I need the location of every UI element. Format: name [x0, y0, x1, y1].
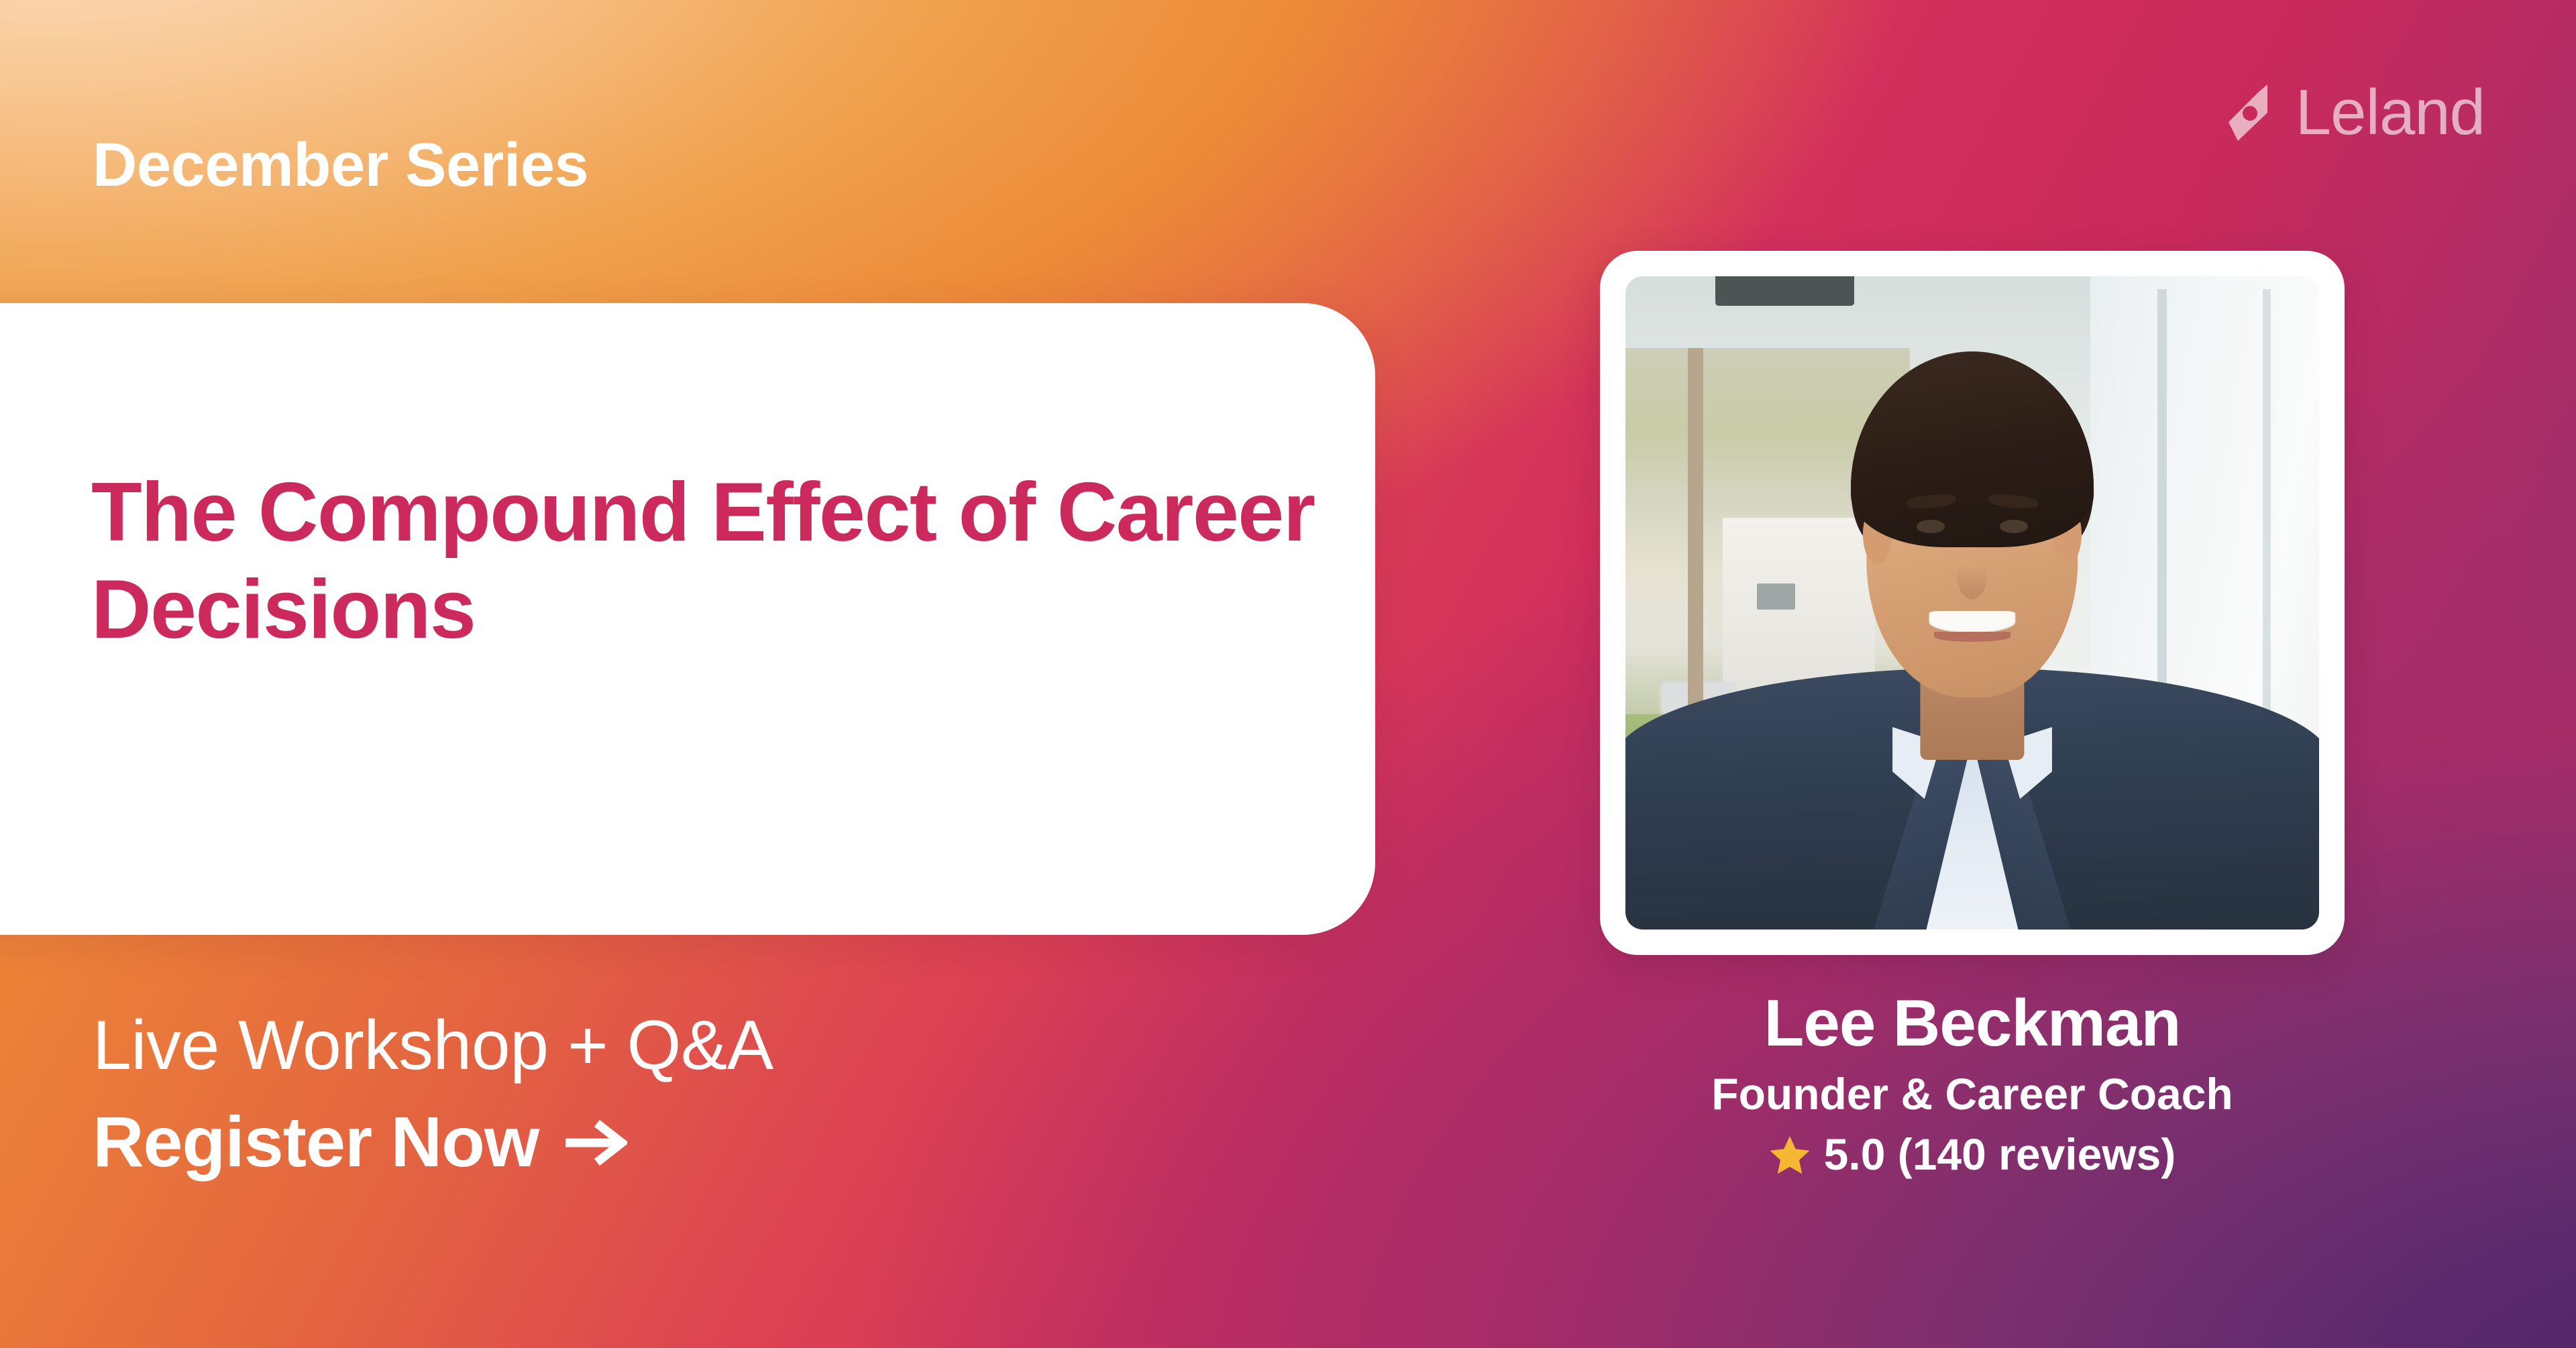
coach-name: Lee Beckman: [1764, 987, 2181, 1060]
brand-name: Leland: [2296, 80, 2485, 145]
register-now-button[interactable]: Register Now: [93, 1102, 773, 1184]
coach-photo-frame: [1600, 251, 2345, 955]
star-filled-icon: [1769, 1135, 1811, 1175]
coach-role: Founder & Career Coach: [1711, 1069, 2233, 1120]
coach-rating-text: 5.0 (140 reviews): [1824, 1129, 2176, 1180]
arrow-right-icon: [566, 1118, 627, 1168]
workshop-title-card: The Compound Effect of Career Decisions: [0, 303, 1375, 935]
workshop-title: The Compound Effect of Career Decisions: [91, 464, 1319, 659]
workshop-format-line: Live Workshop + Q&A: [93, 1005, 773, 1087]
coach-photo: [1625, 276, 2319, 930]
leland-diamond-mark-icon: [2224, 83, 2278, 142]
promo-banner: December Series Leland The Compound Effe…: [0, 0, 2576, 1348]
coach-panel: Lee Beckman Founder & Career Coach 5.0 (…: [1600, 251, 2345, 1180]
cta-block: Live Workshop + Q&A Register Now: [93, 1005, 773, 1184]
leland-logo[interactable]: Leland: [2224, 80, 2485, 145]
series-label: December Series: [93, 131, 588, 199]
register-now-label: Register Now: [93, 1102, 539, 1184]
coach-rating: 5.0 (140 reviews): [1769, 1129, 2176, 1180]
